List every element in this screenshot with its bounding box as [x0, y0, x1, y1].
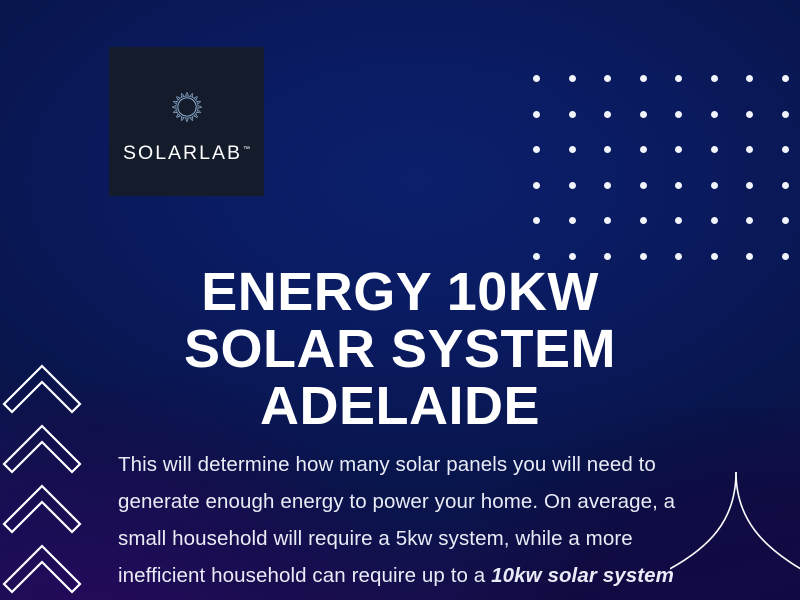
logo-wordmark-text: SOLARLAB [123, 142, 242, 164]
chevron-up-outline [4, 486, 80, 532]
grid-dot [782, 75, 789, 82]
grid-dot [604, 75, 611, 82]
mandala-petal [185, 92, 187, 95]
grid-dot [746, 146, 753, 153]
arch-curve-line [736, 472, 800, 572]
mandala-petal [185, 118, 187, 121]
grid-dot [640, 253, 647, 260]
mandala-petal [176, 96, 179, 99]
grid-dot [675, 111, 682, 118]
grid-dot [711, 75, 718, 82]
mandala-petal [194, 96, 197, 99]
grid-dot [640, 217, 647, 224]
grid-dot [711, 111, 718, 118]
grid-dot [711, 253, 718, 260]
grid-dot [675, 146, 682, 153]
headline-line-1: ENERGY 10KW [201, 262, 599, 322]
mandala-petal [194, 114, 197, 117]
grid-dot [533, 253, 540, 260]
grid-dot [746, 111, 753, 118]
grid-dot [533, 182, 540, 189]
grid-dot [782, 253, 789, 260]
dot-grid-decoration [533, 75, 800, 288]
grid-dot [604, 111, 611, 118]
page-title: ENERGY 10KW SOLAR SYSTEM ADELAIDE [0, 264, 800, 434]
logo-trademark-symbol: ™ [243, 146, 250, 153]
grid-dot [569, 253, 576, 260]
grid-dot [675, 217, 682, 224]
grid-dot [569, 182, 576, 189]
mandala-petal [176, 114, 179, 117]
grid-dot [569, 111, 576, 118]
grid-dot [746, 253, 753, 260]
grid-dot [533, 111, 540, 118]
grid-dot [782, 111, 789, 118]
grid-dot [675, 253, 682, 260]
grid-dot [675, 75, 682, 82]
logo-wordmark: SOLARLAB™ [123, 144, 250, 164]
chevron-up-outline [4, 546, 80, 592]
grid-dot [782, 146, 789, 153]
grid-dot [604, 217, 611, 224]
grid-dot [675, 182, 682, 189]
grid-dot [640, 75, 647, 82]
grid-dot [533, 75, 540, 82]
grid-dot [746, 182, 753, 189]
logo-card: SOLARLAB™ [109, 47, 264, 196]
grid-dot [746, 75, 753, 82]
grid-dot [533, 217, 540, 224]
grid-dot [640, 146, 647, 153]
body-paragraph: This will determine how many solar panel… [118, 446, 708, 600]
grid-dot [711, 146, 718, 153]
headline-line-3: ADELAIDE [260, 376, 540, 436]
grid-dot [604, 182, 611, 189]
grid-dot [640, 182, 647, 189]
grid-dot [604, 253, 611, 260]
grid-dot [782, 217, 789, 224]
poster-canvas: SOLARLAB™ ENERGY 10KW SOLAR SYSTEM ADELA… [0, 0, 800, 600]
grid-dot [569, 75, 576, 82]
grid-dot [711, 217, 718, 224]
grid-dot [569, 146, 576, 153]
grid-dot [746, 217, 753, 224]
sunburst-mandala-icon [160, 80, 214, 134]
grid-dot [640, 111, 647, 118]
grid-dot [533, 146, 540, 153]
mandala-petal [172, 106, 175, 108]
grid-dot [569, 217, 576, 224]
grid-dot [711, 182, 718, 189]
grid-dot [604, 146, 611, 153]
grid-dot [782, 182, 789, 189]
headline-line-2: SOLAR SYSTEM [184, 319, 616, 379]
mandala-petal [198, 106, 201, 108]
